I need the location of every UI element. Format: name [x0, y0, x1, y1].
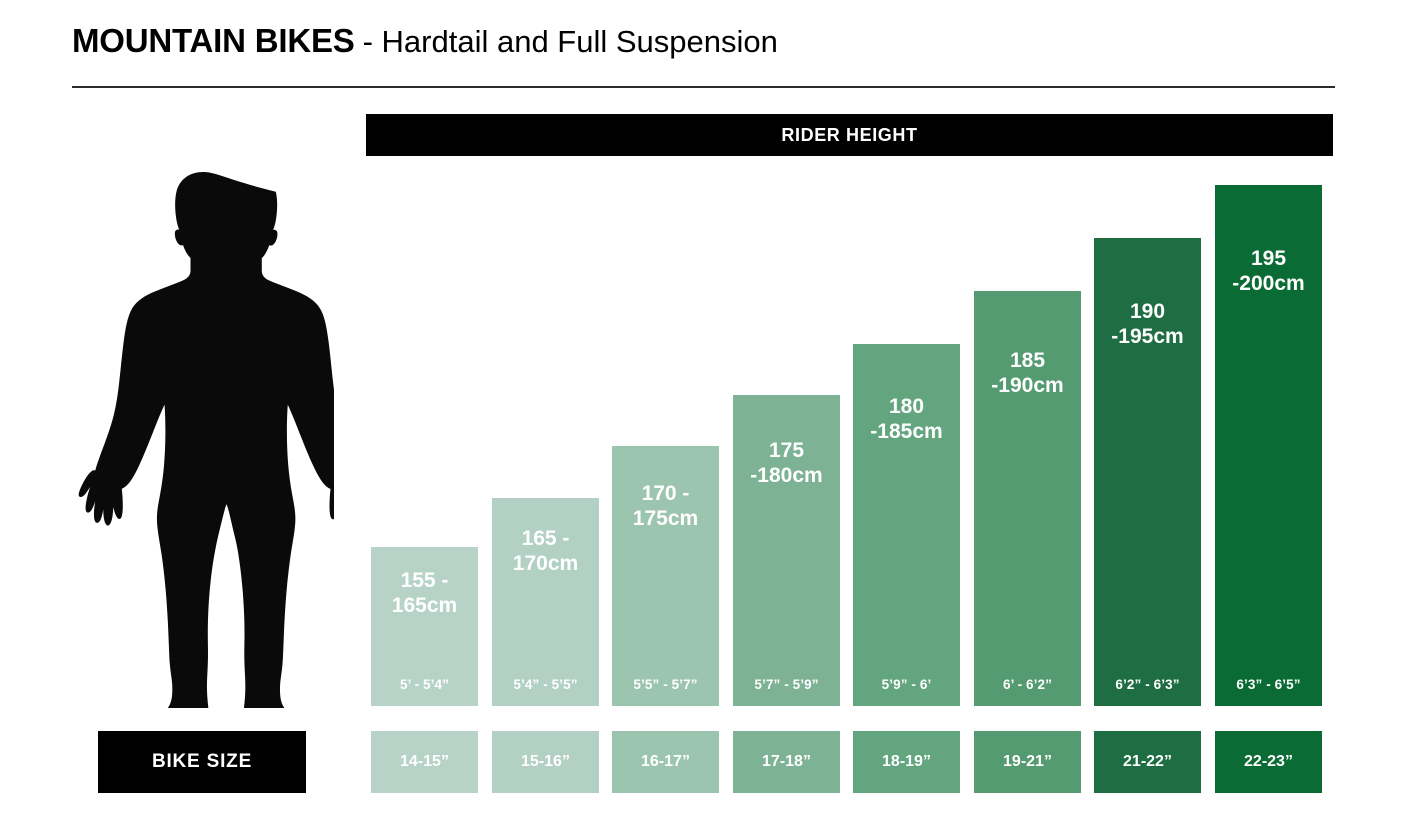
height-bar[interactable]: 175 -180cm5’7” - 5’9”	[733, 395, 840, 706]
bar-cm-label: 155 - 165cm	[371, 569, 478, 619]
bike-size-cell[interactable]: 16-17”	[612, 731, 719, 793]
rider-silhouette	[72, 168, 334, 708]
bike-size-cell[interactable]: 14-15”	[371, 731, 478, 793]
rider-height-label: RIDER HEIGHT	[781, 125, 917, 146]
bar-column[interactable]: 180 -185cm5’9” - 6’	[853, 344, 960, 706]
bike-size-cell[interactable]: 21-22”	[1094, 731, 1201, 793]
height-bar[interactable]: 195 -200cm6’3” - 6’5”	[1215, 185, 1322, 706]
bar-column[interactable]: 155 - 165cm5’ - 5’4”	[371, 547, 478, 706]
bar-column[interactable]: 175 -180cm5’7” - 5’9”	[733, 395, 840, 706]
bar-column[interactable]: 190 -195cm6’2” - 6’3”	[1094, 238, 1201, 706]
bar-column[interactable]: 165 - 170cm5’4” - 5’5”	[492, 498, 599, 706]
bar-ft-label: 5’5” - 5’7”	[612, 677, 719, 692]
bike-size-cell[interactable]: 19-21”	[974, 731, 1081, 793]
bar-column[interactable]: 170 - 175cm5’5” - 5’7”	[612, 446, 719, 706]
bar-cm-label: 165 - 170cm	[492, 527, 599, 577]
height-bar[interactable]: 165 - 170cm5’4” - 5’5”	[492, 498, 599, 706]
bike-size-cell[interactable]: 22-23”	[1215, 731, 1322, 793]
bike-size-legend-label: BIKE SIZE	[152, 751, 252, 773]
height-bar[interactable]: 190 -195cm6’2” - 6’3”	[1094, 238, 1201, 706]
page-title: MOUNTAIN BIKES- Hardtail and Full Suspen…	[72, 22, 778, 60]
height-bar[interactable]: 155 - 165cm5’ - 5’4”	[371, 547, 478, 706]
bar-cm-label: 175 -180cm	[733, 439, 840, 489]
bar-cm-label: 185 -190cm	[974, 349, 1081, 399]
bar-ft-label: 5’ - 5’4”	[371, 677, 478, 692]
bike-size-cell[interactable]: 15-16”	[492, 731, 599, 793]
bar-cm-label: 190 -195cm	[1094, 300, 1201, 350]
bike-size-cell[interactable]: 18-19”	[853, 731, 960, 793]
height-bar[interactable]: 170 - 175cm5’5” - 5’7”	[612, 446, 719, 706]
bike-size-legend: BIKE SIZE	[98, 731, 306, 793]
bar-cm-label: 195 -200cm	[1215, 247, 1322, 297]
bar-ft-label: 5’9” - 6’	[853, 677, 960, 692]
bar-ft-label: 5’4” - 5’5”	[492, 677, 599, 692]
height-bar[interactable]: 185 -190cm6’ - 6’2”	[974, 291, 1081, 706]
bar-ft-label: 6’ - 6’2”	[974, 677, 1081, 692]
title-main: MOUNTAIN BIKES	[72, 22, 355, 59]
person-icon	[72, 168, 334, 708]
rider-height-header: RIDER HEIGHT	[366, 114, 1333, 156]
bar-cm-label: 180 -185cm	[853, 395, 960, 445]
bike-size-cell[interactable]: 17-18”	[733, 731, 840, 793]
height-bar[interactable]: 180 -185cm5’9” - 6’	[853, 344, 960, 706]
bar-column[interactable]: 195 -200cm6’3” - 6’5”	[1215, 185, 1322, 706]
bar-column[interactable]: 185 -190cm6’ - 6’2”	[974, 291, 1081, 706]
bar-ft-label: 6’3” - 6’5”	[1215, 677, 1322, 692]
bar-cm-label: 170 - 175cm	[612, 482, 719, 532]
title-subtitle: - Hardtail and Full Suspension	[363, 24, 778, 59]
title-divider	[72, 86, 1335, 88]
bar-ft-label: 6’2” - 6’3”	[1094, 677, 1201, 692]
bar-ft-label: 5’7” - 5’9”	[733, 677, 840, 692]
